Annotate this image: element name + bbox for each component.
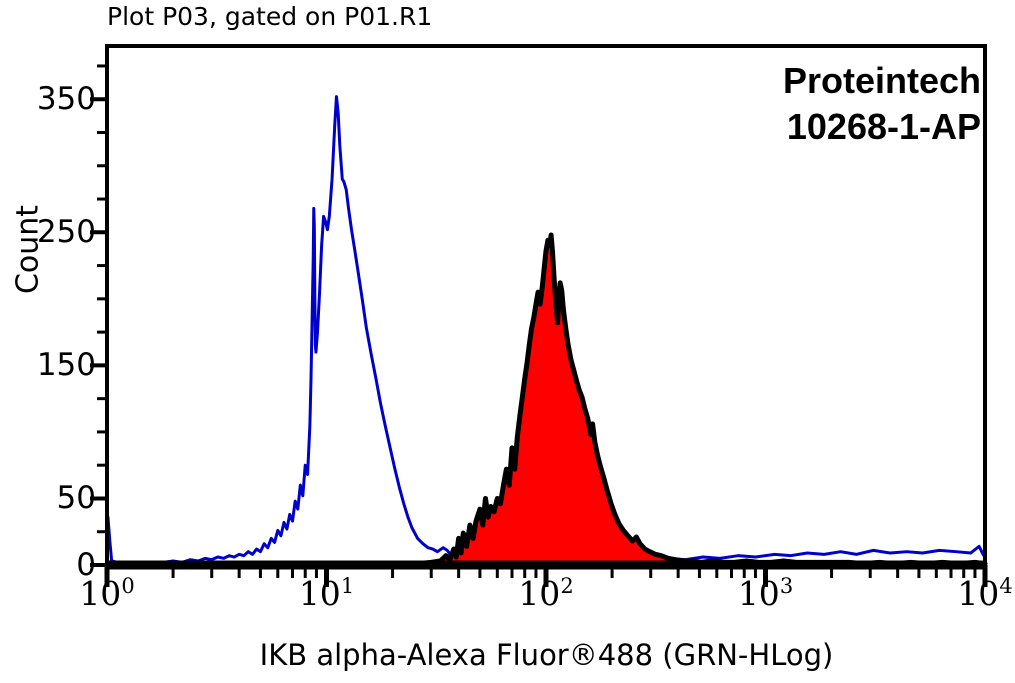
series-fill-stained	[107, 235, 985, 565]
flow-cytometry-histogram: Plot P03, gated on P01.R1 Proteintech 10…	[0, 0, 1015, 683]
plot-canvas	[0, 0, 1015, 683]
